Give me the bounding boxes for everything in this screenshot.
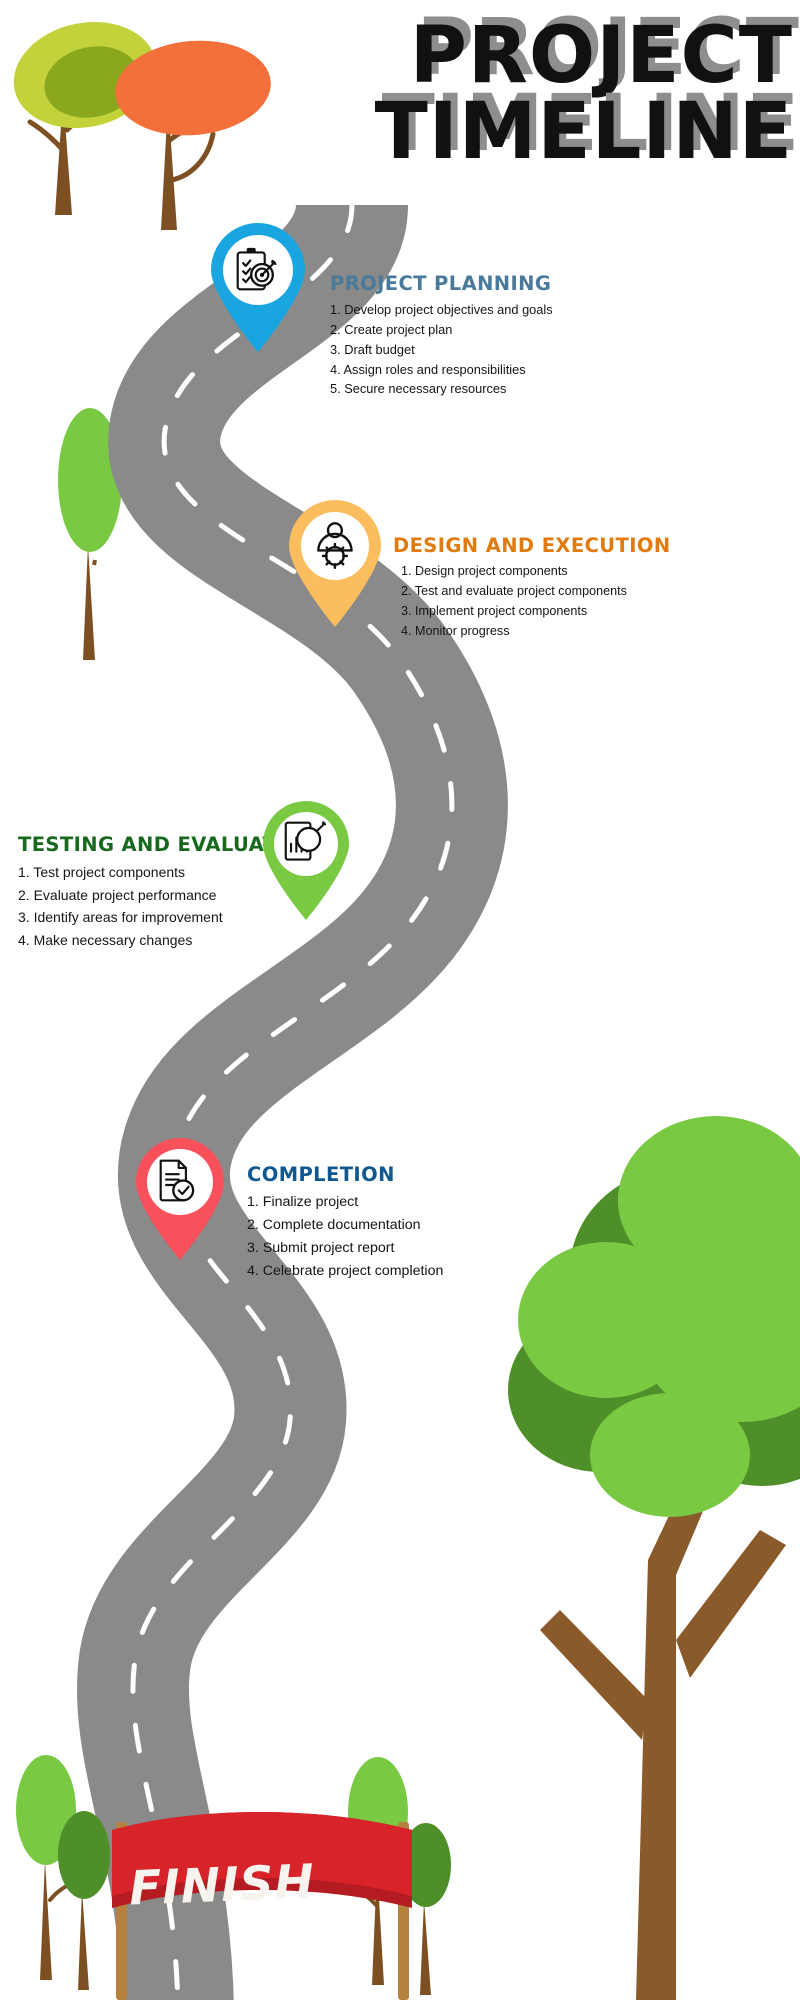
milestone-block-design: DESIGN AND EXECUTION 1. Design project c… — [393, 534, 671, 642]
list-item: 2. Test and evaluate project components — [401, 582, 671, 602]
list-item: 2. Create project plan — [330, 320, 553, 340]
page-title: PROJECT TIMELINE — [253, 18, 793, 171]
milestone-pin-design[interactable] — [283, 499, 387, 629]
milestone-pin-planning[interactable] — [205, 222, 311, 354]
tree-bottom-left-b — [58, 1811, 110, 1990]
milestone-title-completion: COMPLETION — [247, 1163, 443, 1186]
list-item: 1. Develop project objectives and goals — [330, 300, 553, 320]
milestone-list-design: 1. Design project components 2. Test and… — [393, 562, 671, 642]
list-item: 2. Complete documentation — [247, 1214, 443, 1237]
list-item: 5. Secure necessary resources — [330, 379, 553, 399]
milestone-title-design: DESIGN AND EXECUTION — [393, 534, 671, 557]
milestone-pin-completion[interactable] — [131, 1138, 229, 1262]
list-item: 1. Finalize project — [247, 1191, 443, 1214]
milestone-title-planning: PROJECT PLANNING — [330, 272, 553, 295]
tree-large-right — [508, 1116, 800, 2000]
list-item: 3. Draft budget — [330, 340, 553, 360]
title-line-1: PROJECT — [253, 18, 793, 94]
list-item: 3. Implement project components — [401, 602, 671, 622]
milestone-list-planning: 1. Develop project objectives and goals … — [330, 300, 553, 399]
milestone-list-completion: 1. Finalize project 2. Complete document… — [247, 1191, 443, 1283]
list-item: 1. Design project components — [401, 562, 671, 582]
milestone-pin-testing[interactable] — [258, 800, 354, 922]
finish-banner-label: FINISH — [111, 1854, 333, 1917]
list-item: 4. Monitor progress — [401, 622, 671, 642]
milestone-block-completion: COMPLETION 1. Finalize project 2. Comple… — [247, 1163, 443, 1283]
title-line-2: TIMELINE — [253, 94, 793, 170]
list-item: 4. Assign roles and responsibilities — [330, 360, 553, 380]
infographic-canvas: PROJECT TIMELINE — [0, 0, 800, 2000]
milestone-block-planning: PROJECT PLANNING 1. Develop project obje… — [330, 272, 553, 399]
list-item: 3. Submit project report — [247, 1237, 443, 1260]
list-item: 4. Celebrate project completion — [247, 1260, 443, 1283]
list-item: 4. Make necessary changes — [18, 929, 318, 952]
